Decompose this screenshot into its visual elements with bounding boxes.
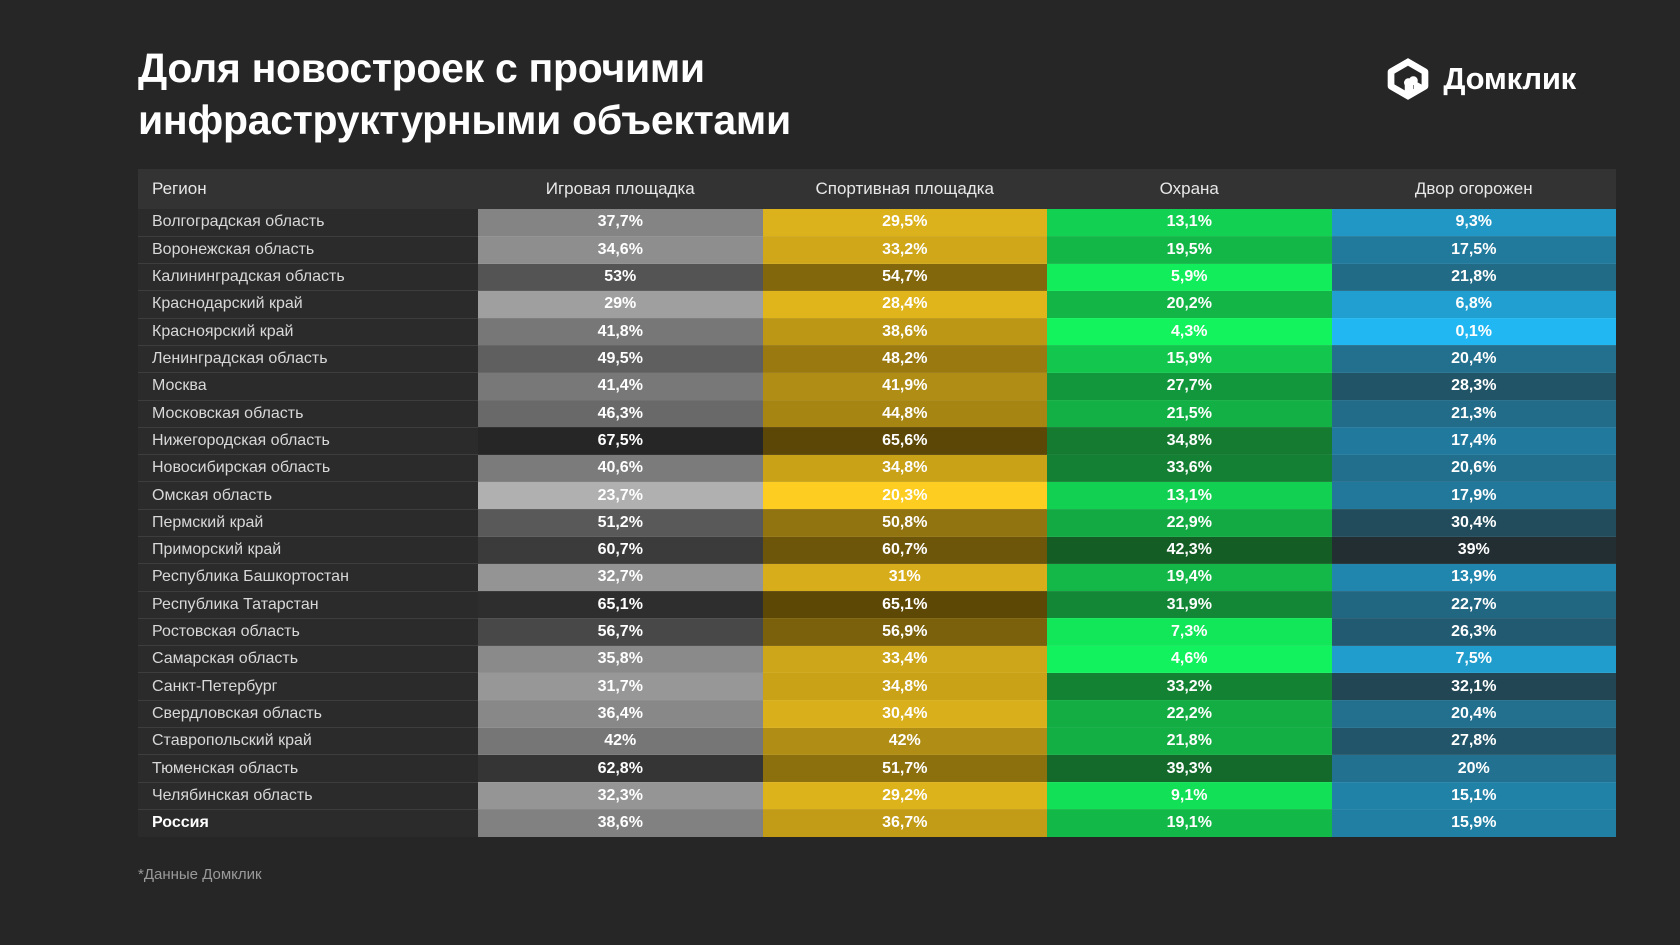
region-cell: Свердловская область xyxy=(138,700,478,727)
table-row: Красноярский край41,8%38,6%4,3%0,1% xyxy=(138,318,1616,345)
region-cell: Республика Татарстан xyxy=(138,591,478,618)
value-cell-security: 22,2% xyxy=(1047,700,1332,727)
value-cell-fenced-yard: 7,5% xyxy=(1332,646,1617,673)
value-cell-sports: 54,7% xyxy=(763,264,1048,291)
logo-wordmark: Домклик xyxy=(1443,61,1576,97)
value-cell-playground: 53% xyxy=(478,264,763,291)
value-cell-fenced-yard: 20,6% xyxy=(1332,455,1617,482)
table-row: Ростовская область56,7%56,9%7,3%26,3% xyxy=(138,618,1616,645)
value-cell-fenced-yard: 9,3% xyxy=(1332,209,1617,236)
value-cell-security: 9,1% xyxy=(1047,782,1332,809)
page-title: Доля новостроек с прочими инфраструктурн… xyxy=(138,42,791,147)
region-cell: Ставропольский край xyxy=(138,728,478,755)
value-cell-sports: 44,8% xyxy=(763,400,1048,427)
value-cell-fenced-yard: 26,3% xyxy=(1332,618,1617,645)
column-header-sports: Спортивная площадка xyxy=(763,169,1048,209)
value-cell-fenced-yard: 32,1% xyxy=(1332,673,1617,700)
table-row: Воронежская область34,6%33,2%19,5%17,5% xyxy=(138,236,1616,263)
column-header-playground: Игровая площадка xyxy=(478,169,763,209)
table-row: Краснодарский край29%28,4%20,2%6,8% xyxy=(138,291,1616,318)
table-row: Москва41,4%41,9%27,7%28,3% xyxy=(138,373,1616,400)
value-cell-security: 22,9% xyxy=(1047,509,1332,536)
table-row: Приморский край60,7%60,7%42,3%39% xyxy=(138,537,1616,564)
region-cell: Ростовская область xyxy=(138,618,478,645)
value-cell-playground: 49,5% xyxy=(478,345,763,372)
region-cell: Омская область xyxy=(138,482,478,509)
table-header: Регион Игровая площадка Спортивная площа… xyxy=(138,169,1616,209)
region-cell: Тюменская область xyxy=(138,755,478,782)
table-row: Ставропольский край42%42%21,8%27,8% xyxy=(138,728,1616,755)
value-cell-playground: 38,6% xyxy=(478,809,763,836)
table-row: Пермский край51,2%50,8%22,9%30,4% xyxy=(138,509,1616,536)
value-cell-security: 13,1% xyxy=(1047,482,1332,509)
header-row: Регион Игровая площадка Спортивная площа… xyxy=(138,169,1616,209)
heatmap-table-wrapper: Регион Игровая площадка Спортивная площа… xyxy=(0,169,1680,837)
region-cell: Приморский край xyxy=(138,537,478,564)
table-row: Волгоградская область37,7%29,5%13,1%9,3% xyxy=(138,209,1616,236)
value-cell-playground: 42% xyxy=(478,728,763,755)
page-header: Доля новостроек с прочими инфраструктурн… xyxy=(0,0,1680,147)
value-cell-sports: 51,7% xyxy=(763,755,1048,782)
domclick-logo: Домклик xyxy=(1385,56,1576,102)
table-row: Новосибирская область40,6%34,8%33,6%20,6… xyxy=(138,455,1616,482)
value-cell-playground: 23,7% xyxy=(478,482,763,509)
value-cell-security: 33,6% xyxy=(1047,455,1332,482)
value-cell-security: 33,2% xyxy=(1047,673,1332,700)
value-cell-playground: 41,4% xyxy=(478,373,763,400)
region-cell: Санкт-Петербург xyxy=(138,673,478,700)
value-cell-sports: 42% xyxy=(763,728,1048,755)
value-cell-fenced-yard: 17,4% xyxy=(1332,427,1617,454)
value-cell-sports: 34,8% xyxy=(763,673,1048,700)
table-row: Самарская область35,8%33,4%4,6%7,5% xyxy=(138,646,1616,673)
table-row: Республика Башкортостан32,7%31%19,4%13,9… xyxy=(138,564,1616,591)
value-cell-security: 13,1% xyxy=(1047,209,1332,236)
value-cell-security: 4,6% xyxy=(1047,646,1332,673)
value-cell-security: 19,1% xyxy=(1047,809,1332,836)
value-cell-fenced-yard: 28,3% xyxy=(1332,373,1617,400)
table-row: Московская область46,3%44,8%21,5%21,3% xyxy=(138,400,1616,427)
table-row: Тюменская область62,8%51,7%39,3%20% xyxy=(138,755,1616,782)
region-cell: Новосибирская область xyxy=(138,455,478,482)
value-cell-security: 31,9% xyxy=(1047,591,1332,618)
value-cell-security: 21,5% xyxy=(1047,400,1332,427)
table-row: Омская область23,7%20,3%13,1%17,9% xyxy=(138,482,1616,509)
column-header-region: Регион xyxy=(138,169,478,209)
value-cell-playground: 32,7% xyxy=(478,564,763,591)
value-cell-security: 19,5% xyxy=(1047,236,1332,263)
region-cell: Красноярский край xyxy=(138,318,478,345)
region-cell: Ленинградская область xyxy=(138,345,478,372)
value-cell-sports: 65,6% xyxy=(763,427,1048,454)
value-cell-playground: 41,8% xyxy=(478,318,763,345)
region-cell: Россия xyxy=(138,809,478,836)
value-cell-playground: 29% xyxy=(478,291,763,318)
value-cell-playground: 62,8% xyxy=(478,755,763,782)
value-cell-fenced-yard: 17,5% xyxy=(1332,236,1617,263)
region-cell: Челябинская область xyxy=(138,782,478,809)
value-cell-sports: 38,6% xyxy=(763,318,1048,345)
value-cell-playground: 40,6% xyxy=(478,455,763,482)
value-cell-sports: 56,9% xyxy=(763,618,1048,645)
value-cell-sports: 33,2% xyxy=(763,236,1048,263)
value-cell-security: 21,8% xyxy=(1047,728,1332,755)
value-cell-fenced-yard: 39% xyxy=(1332,537,1617,564)
value-cell-sports: 20,3% xyxy=(763,482,1048,509)
value-cell-security: 4,3% xyxy=(1047,318,1332,345)
table-row: Калининградская область53%54,7%5,9%21,8% xyxy=(138,264,1616,291)
table-row: Свердловская область36,4%30,4%22,2%20,4% xyxy=(138,700,1616,727)
value-cell-playground: 56,7% xyxy=(478,618,763,645)
value-cell-playground: 37,7% xyxy=(478,209,763,236)
value-cell-sports: 28,4% xyxy=(763,291,1048,318)
footnote: *Данные Домклик xyxy=(138,866,262,883)
value-cell-fenced-yard: 21,3% xyxy=(1332,400,1617,427)
table-row: Республика Татарстан65,1%65,1%31,9%22,7% xyxy=(138,591,1616,618)
region-cell: Нижегородская область xyxy=(138,427,478,454)
value-cell-fenced-yard: 6,8% xyxy=(1332,291,1617,318)
value-cell-fenced-yard: 13,9% xyxy=(1332,564,1617,591)
value-cell-security: 34,8% xyxy=(1047,427,1332,454)
value-cell-playground: 46,3% xyxy=(478,400,763,427)
value-cell-fenced-yard: 15,1% xyxy=(1332,782,1617,809)
infrastructure-heatmap-table: Регион Игровая площадка Спортивная площа… xyxy=(138,169,1616,837)
value-cell-sports: 48,2% xyxy=(763,345,1048,372)
value-cell-fenced-yard: 20% xyxy=(1332,755,1617,782)
region-cell: Воронежская область xyxy=(138,236,478,263)
value-cell-fenced-yard: 20,4% xyxy=(1332,345,1617,372)
value-cell-security: 19,4% xyxy=(1047,564,1332,591)
value-cell-sports: 34,8% xyxy=(763,455,1048,482)
value-cell-fenced-yard: 0,1% xyxy=(1332,318,1617,345)
value-cell-sports: 60,7% xyxy=(763,537,1048,564)
house-logo-icon xyxy=(1385,56,1431,102)
table-row: Ленинградская область49,5%48,2%15,9%20,4… xyxy=(138,345,1616,372)
value-cell-playground: 60,7% xyxy=(478,537,763,564)
region-cell: Московская область xyxy=(138,400,478,427)
value-cell-fenced-yard: 20,4% xyxy=(1332,700,1617,727)
value-cell-security: 5,9% xyxy=(1047,264,1332,291)
value-cell-sports: 50,8% xyxy=(763,509,1048,536)
value-cell-sports: 41,9% xyxy=(763,373,1048,400)
region-cell: Краснодарский край xyxy=(138,291,478,318)
column-header-security: Охрана xyxy=(1047,169,1332,209)
value-cell-fenced-yard: 15,9% xyxy=(1332,809,1617,836)
value-cell-sports: 33,4% xyxy=(763,646,1048,673)
value-cell-playground: 36,4% xyxy=(478,700,763,727)
value-cell-playground: 31,7% xyxy=(478,673,763,700)
region-cell: Республика Башкортостан xyxy=(138,564,478,591)
region-cell: Москва xyxy=(138,373,478,400)
region-cell: Волгоградская область xyxy=(138,209,478,236)
value-cell-security: 42,3% xyxy=(1047,537,1332,564)
table-row: Челябинская область32,3%29,2%9,1%15,1% xyxy=(138,782,1616,809)
value-cell-fenced-yard: 17,9% xyxy=(1332,482,1617,509)
value-cell-sports: 29,5% xyxy=(763,209,1048,236)
value-cell-sports: 29,2% xyxy=(763,782,1048,809)
column-header-fenced-yard: Двор огорожен xyxy=(1332,169,1617,209)
value-cell-fenced-yard: 27,8% xyxy=(1332,728,1617,755)
value-cell-sports: 36,7% xyxy=(763,809,1048,836)
value-cell-playground: 35,8% xyxy=(478,646,763,673)
value-cell-fenced-yard: 21,8% xyxy=(1332,264,1617,291)
infographic-page: { "header": { "title": "Доля новостроек … xyxy=(0,0,1680,945)
value-cell-playground: 67,5% xyxy=(478,427,763,454)
value-cell-fenced-yard: 22,7% xyxy=(1332,591,1617,618)
region-cell: Калининградская область xyxy=(138,264,478,291)
value-cell-security: 27,7% xyxy=(1047,373,1332,400)
value-cell-fenced-yard: 30,4% xyxy=(1332,509,1617,536)
region-cell: Самарская область xyxy=(138,646,478,673)
value-cell-security: 15,9% xyxy=(1047,345,1332,372)
value-cell-sports: 30,4% xyxy=(763,700,1048,727)
table-row: Россия38,6%36,7%19,1%15,9% xyxy=(138,809,1616,836)
value-cell-playground: 65,1% xyxy=(478,591,763,618)
value-cell-security: 20,2% xyxy=(1047,291,1332,318)
value-cell-security: 39,3% xyxy=(1047,755,1332,782)
table-row: Нижегородская область67,5%65,6%34,8%17,4… xyxy=(138,427,1616,454)
value-cell-sports: 31% xyxy=(763,564,1048,591)
table-body: Волгоградская область37,7%29,5%13,1%9,3%… xyxy=(138,209,1616,837)
value-cell-playground: 51,2% xyxy=(478,509,763,536)
table-row: Санкт-Петербург31,7%34,8%33,2%32,1% xyxy=(138,673,1616,700)
value-cell-playground: 34,6% xyxy=(478,236,763,263)
value-cell-sports: 65,1% xyxy=(763,591,1048,618)
region-cell: Пермский край xyxy=(138,509,478,536)
value-cell-security: 7,3% xyxy=(1047,618,1332,645)
value-cell-playground: 32,3% xyxy=(478,782,763,809)
